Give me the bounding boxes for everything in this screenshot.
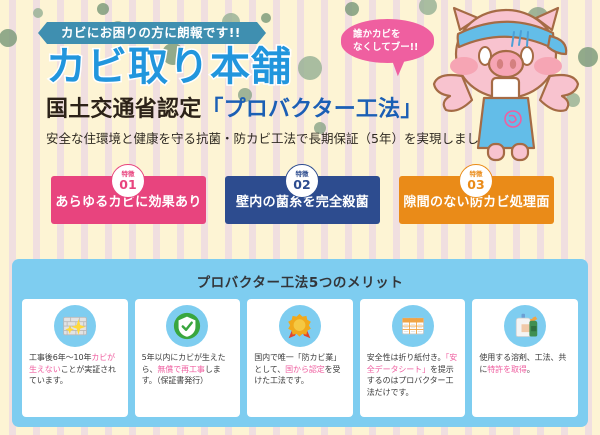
merit-highlight-text: 特許を取得 [487,365,527,374]
badge-number: 01 [119,179,136,192]
merit-highlight-text: 無償で再工事 [157,365,204,374]
feature-badge-02: 特徴 02 [285,164,319,198]
merit-card-text: 安全性は折り紙付き。「安全データシート」を提示するのはプロバクター工法だけです。 [367,352,459,398]
mascot-speech-bubble: 誰かカビを なくしてブー!! [341,19,434,63]
feature-badge-01: 特徴 01 [111,164,145,198]
pig-mascot-icon [432,2,600,162]
feature-badge-03: 特徴 03 [459,164,493,198]
badge-number: 03 [467,179,484,192]
sub-title: 国土交通省認定「プロバクター工法」 [46,96,423,124]
badge-number: 02 [293,179,310,192]
sub-title-certification: 国土交通省認定 [46,97,201,122]
announcement-ribbon: カビにお困りの方に朗報です!! [47,22,257,44]
merit-card[interactable]: 使用する溶剤、工法、共に特許を取得。 [472,299,578,417]
merit-highlight-text: 国から認定 [285,365,325,374]
merit-card-text: 使用する溶剤、工法、共に特許を取得。 [479,352,571,375]
merit-plain-text: 。 [527,365,535,374]
merit-cards-list: 工事後6年～10年カビが生えないことが実証されています。 5年以内にカビが生えた… [22,299,578,417]
merit-card[interactable]: 5年以内にカビが生えたら、無償で再工事します。（保証書発行） [135,299,241,417]
merit-card[interactable]: 国内で唯一「防カビ業」として、国から認定を受けた工法です。 [247,299,353,417]
merits-panel: プロバクター工法5つのメリット 工事後6年～10年カビが生えないことが実証されて… [12,259,588,427]
spray-bottles-icon [504,305,546,347]
award-medal-icon [279,305,321,347]
data-sheet-icon [392,305,434,347]
shield-check-icon [166,305,208,347]
merits-title: プロバクター工法5つのメリット [12,259,588,291]
merit-card[interactable]: 安全性は折り紙付き。「安全データシート」を提示するのはプロバクター工法だけです。 [360,299,466,417]
page-title: カビ取り本舗 [46,44,292,90]
merit-plain-text: 工事後6年～10年 [29,353,91,362]
speech-line-1: 誰かカビを [353,28,434,41]
page-root: カビにお困りの方に朗報です!! カビ取り本舗 国土交通省認定「プロバクター工法」… [0,0,600,435]
merit-card[interactable]: 工事後6年～10年カビが生えないことが実証されています。 [22,299,128,417]
hero-section: カビにお困りの方に朗報です!! カビ取り本舗 国土交通省認定「プロバクター工法」… [0,0,600,258]
merit-card-text: 5年以内にカビが生えたら、無償で再工事します。（保証書発行） [142,352,234,387]
sub-title-method: 「プロバクター工法」 [201,97,422,122]
merit-card-text: 工事後6年～10年カビが生えないことが実証されています。 [29,352,121,387]
brick-wall-sparkle-icon [54,305,96,347]
speech-line-2: なくしてブー!! [353,41,434,54]
merit-card-text: 国内で唯一「防カビ業」として、国から認定を受けた工法です。 [254,352,346,387]
merit-plain-text: 安全性は折り紙付き。 [367,353,446,362]
